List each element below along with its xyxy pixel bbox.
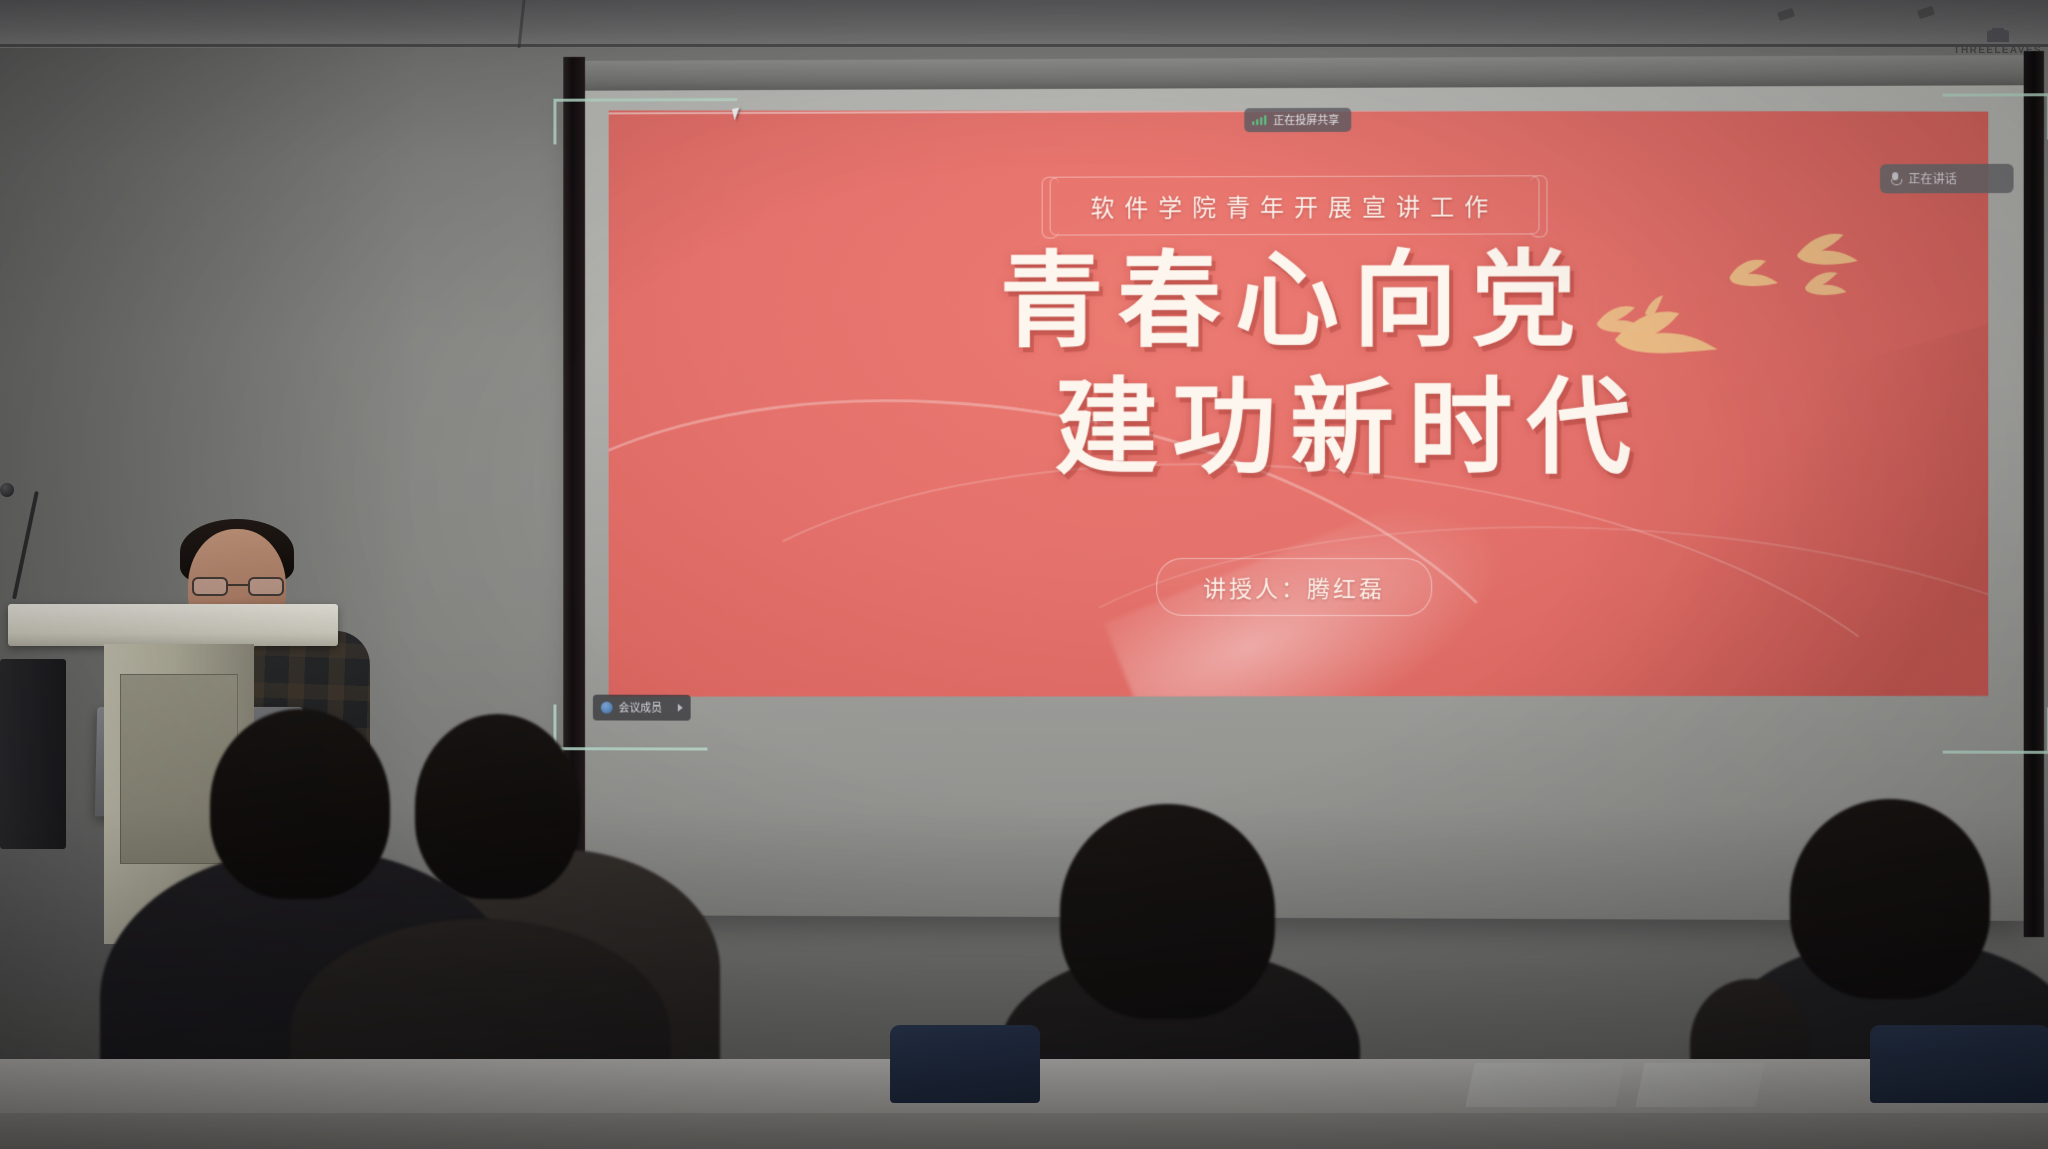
- speaking-label: 正在讲话: [1908, 170, 1957, 187]
- screen-share-indicator[interactable]: 正在投屏共享: [1244, 108, 1351, 132]
- share-frame-corner-top-right: [2003, 93, 2048, 139]
- signal-bars-icon: [1252, 115, 1266, 125]
- projected-slide: 软件学院青年开展宣讲工作 青春心向党 建功新时代 讲授人：腾红磊: [609, 106, 1989, 700]
- podium-top: [8, 604, 338, 646]
- classroom-scene: THREELEAVES 软件学院青年开展宣讲工作 青春心向党 建功新时代 讲授人…: [0, 0, 2048, 1149]
- microphone-stand: [0, 489, 56, 609]
- glasses-icon: [192, 577, 284, 597]
- dove-icon: [1591, 293, 1653, 341]
- three-leaves-icon: [1987, 28, 2009, 42]
- speaking-indicator[interactable]: 正在讲话: [1880, 164, 2014, 194]
- microphone-arm: [12, 491, 39, 599]
- dove-icon: [1801, 263, 1849, 303]
- slide-banner: 软件学院青年开展宣讲工作: [1050, 175, 1540, 235]
- ceiling-edge: [0, 44, 2048, 47]
- projection-screen: 软件学院青年开展宣讲工作 青春心向党 建功新时代 讲授人：腾红磊: [575, 55, 2030, 921]
- participant-name-pill[interactable]: 会议成员: [593, 695, 691, 721]
- ceiling-band: [0, 0, 2048, 48]
- microphone-icon: [0, 483, 14, 497]
- dove-group: [1605, 237, 1867, 388]
- slide-presenter-badge: 讲授人：腾红磊: [1156, 558, 1432, 616]
- participant-name-label: 会议成员: [619, 700, 662, 716]
- share-frame-edge: [1943, 93, 2004, 96]
- share-frame-edge: [599, 747, 708, 750]
- chevron-right-icon[interactable]: [678, 704, 683, 712]
- share-frame-edge: [599, 98, 737, 101]
- avatar-icon: [601, 702, 613, 714]
- microphone-icon: [1890, 172, 1901, 186]
- dove-icon: [1726, 249, 1782, 295]
- share-frame-corner-top-left: [553, 99, 598, 145]
- screen-edge-right: [2024, 51, 2044, 937]
- scene-bottom-shade: [0, 809, 2048, 1149]
- share-frame-corner-bottom-right: [2003, 707, 2048, 753]
- screen-share-label: 正在投屏共享: [1273, 112, 1339, 128]
- share-frame-edge: [1943, 751, 2004, 754]
